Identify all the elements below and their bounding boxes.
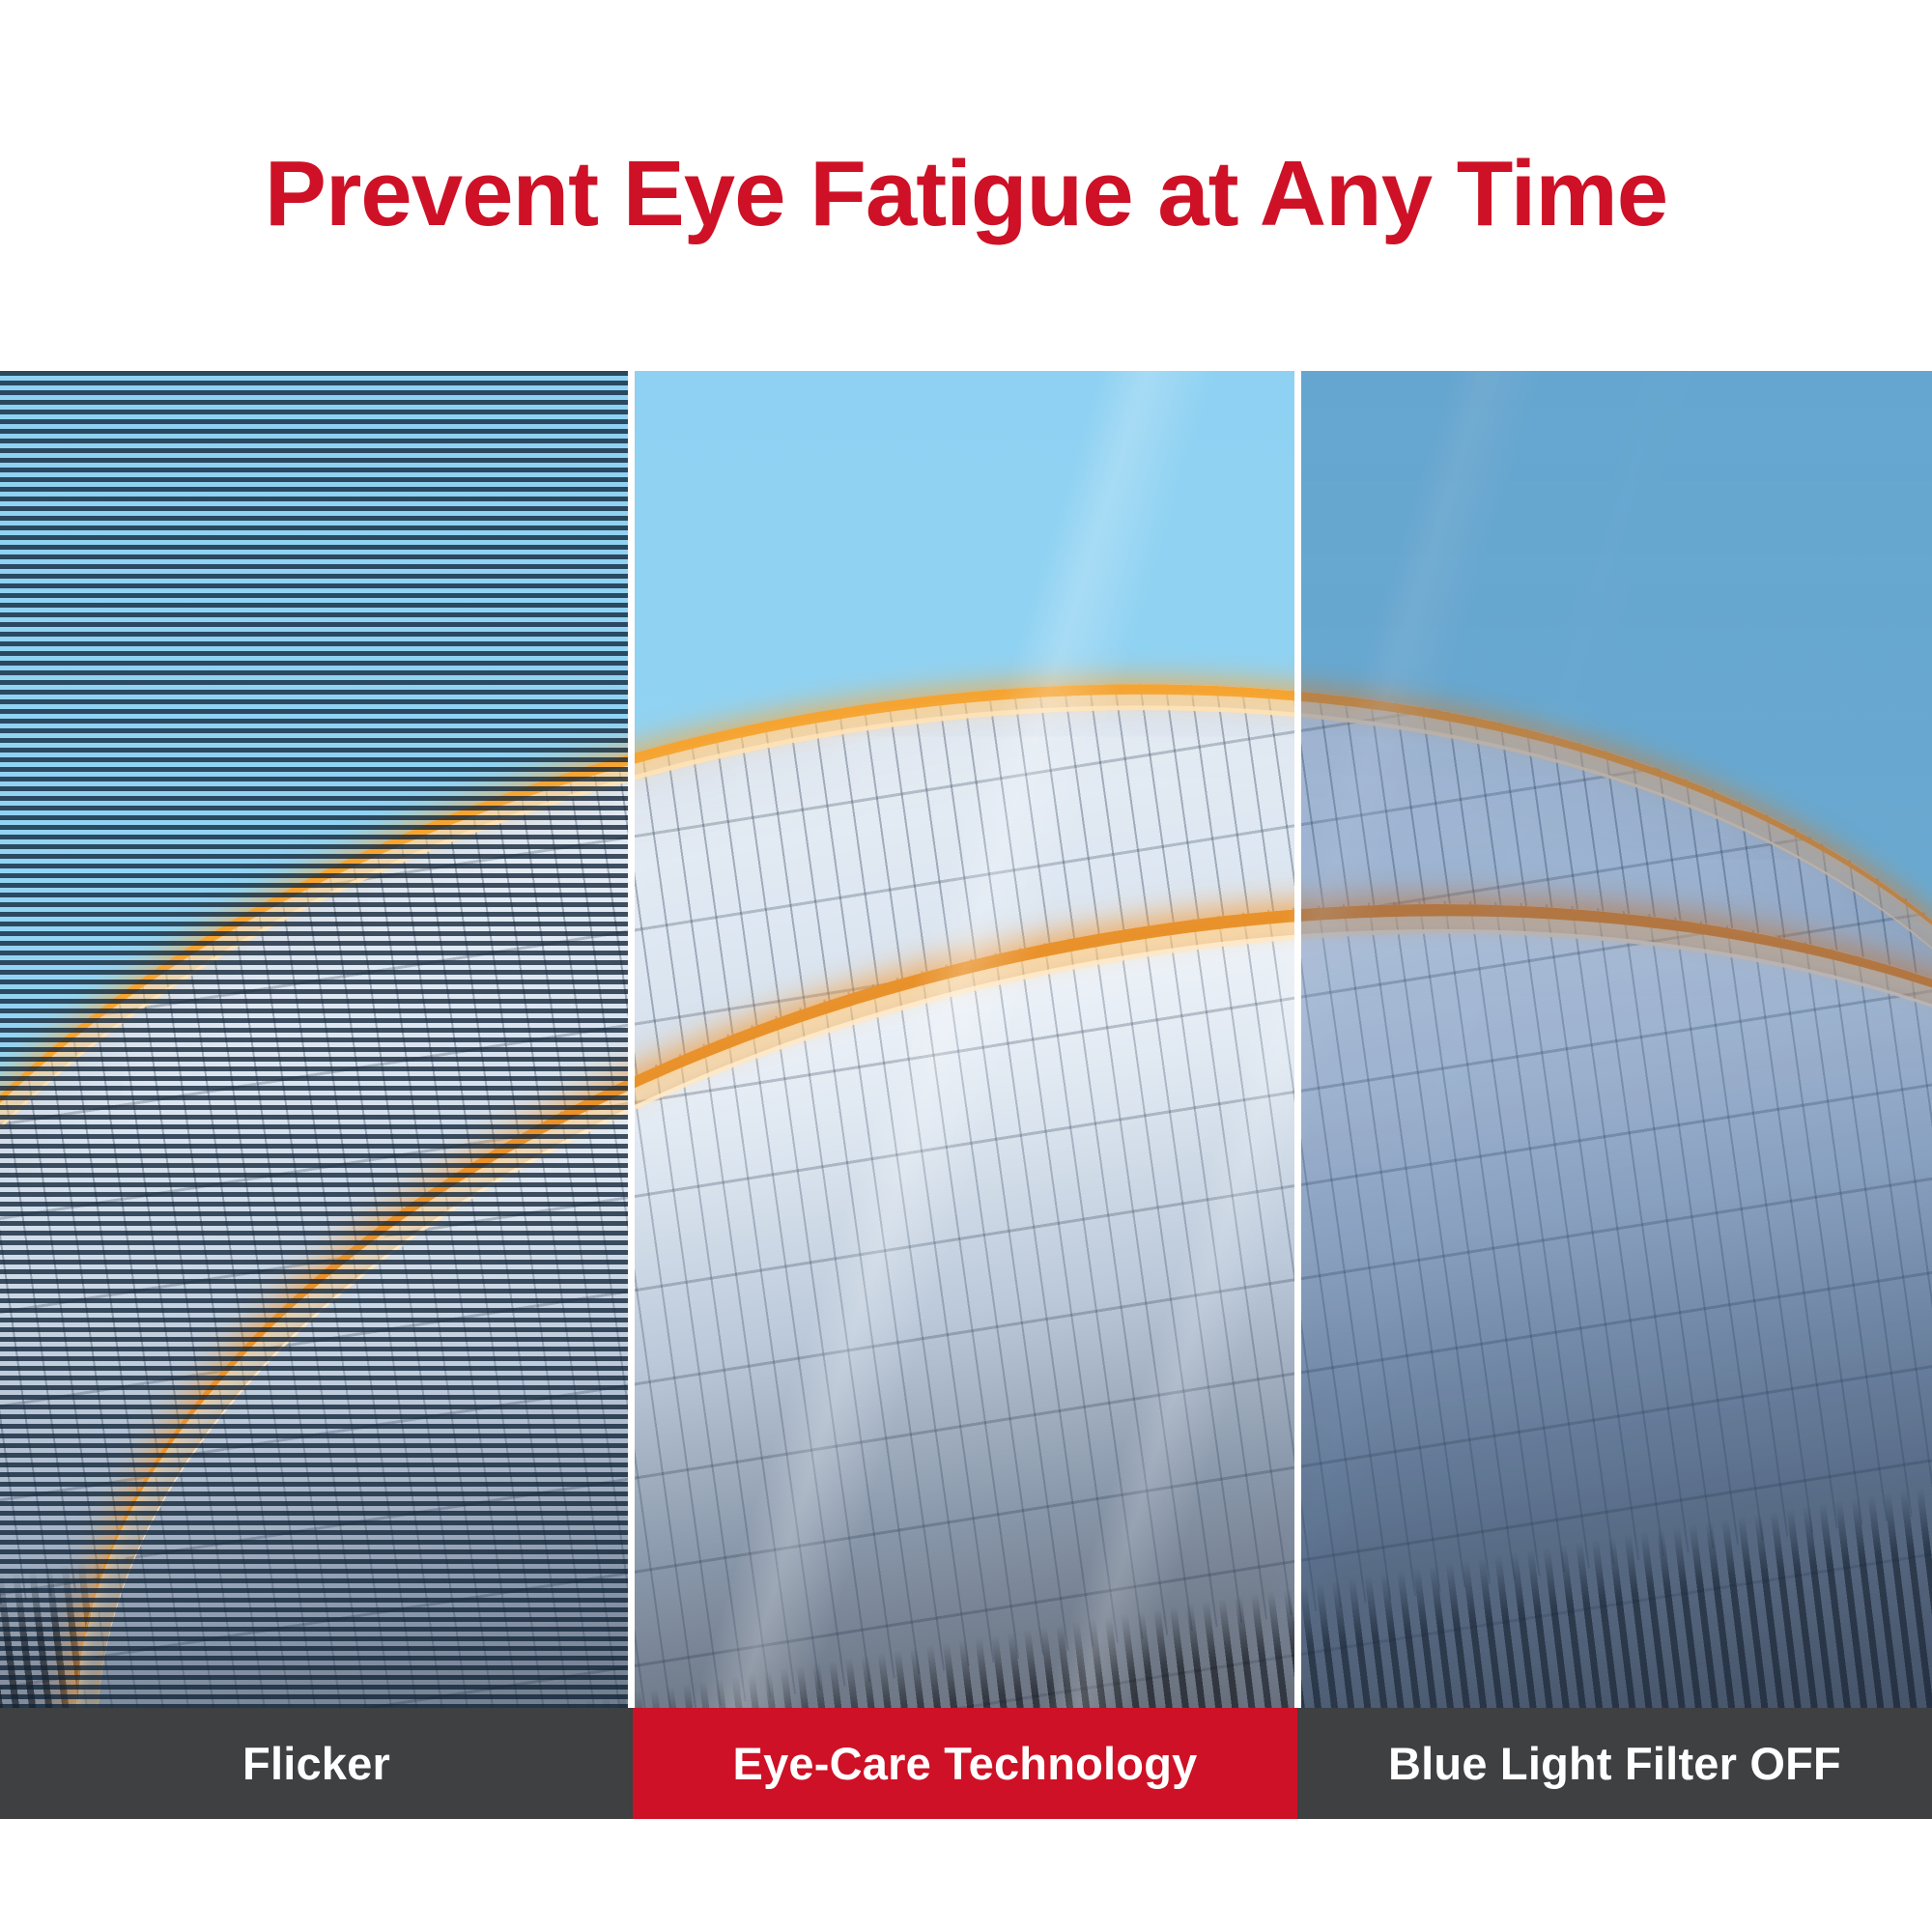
building-scene-blue-light-off bbox=[1301, 371, 1932, 1708]
panel-eye-care bbox=[635, 371, 1294, 1708]
building-scene-eye-care bbox=[635, 371, 1294, 1708]
page-title: Prevent Eye Fatigue at Any Time bbox=[0, 143, 1932, 245]
building-scene-flicker bbox=[0, 371, 630, 1708]
panel-blue-light-off bbox=[1301, 371, 1932, 1708]
label-blue-light-filter-off: Blue Light Filter OFF bbox=[1297, 1708, 1932, 1819]
panel-divider-left bbox=[628, 371, 635, 1708]
comparison-image-strip bbox=[0, 371, 1932, 1708]
panel-divider-right bbox=[1294, 371, 1301, 1708]
panel-label-bar: Flicker Eye-Care Technology Blue Light F… bbox=[0, 1708, 1932, 1819]
label-flicker: Flicker bbox=[0, 1708, 633, 1819]
panel-flicker bbox=[0, 371, 630, 1708]
label-eye-care-technology: Eye-Care Technology bbox=[633, 1708, 1297, 1819]
eye-care-comparison-page: Prevent Eye Fatigue at Any Time bbox=[0, 0, 1932, 1932]
